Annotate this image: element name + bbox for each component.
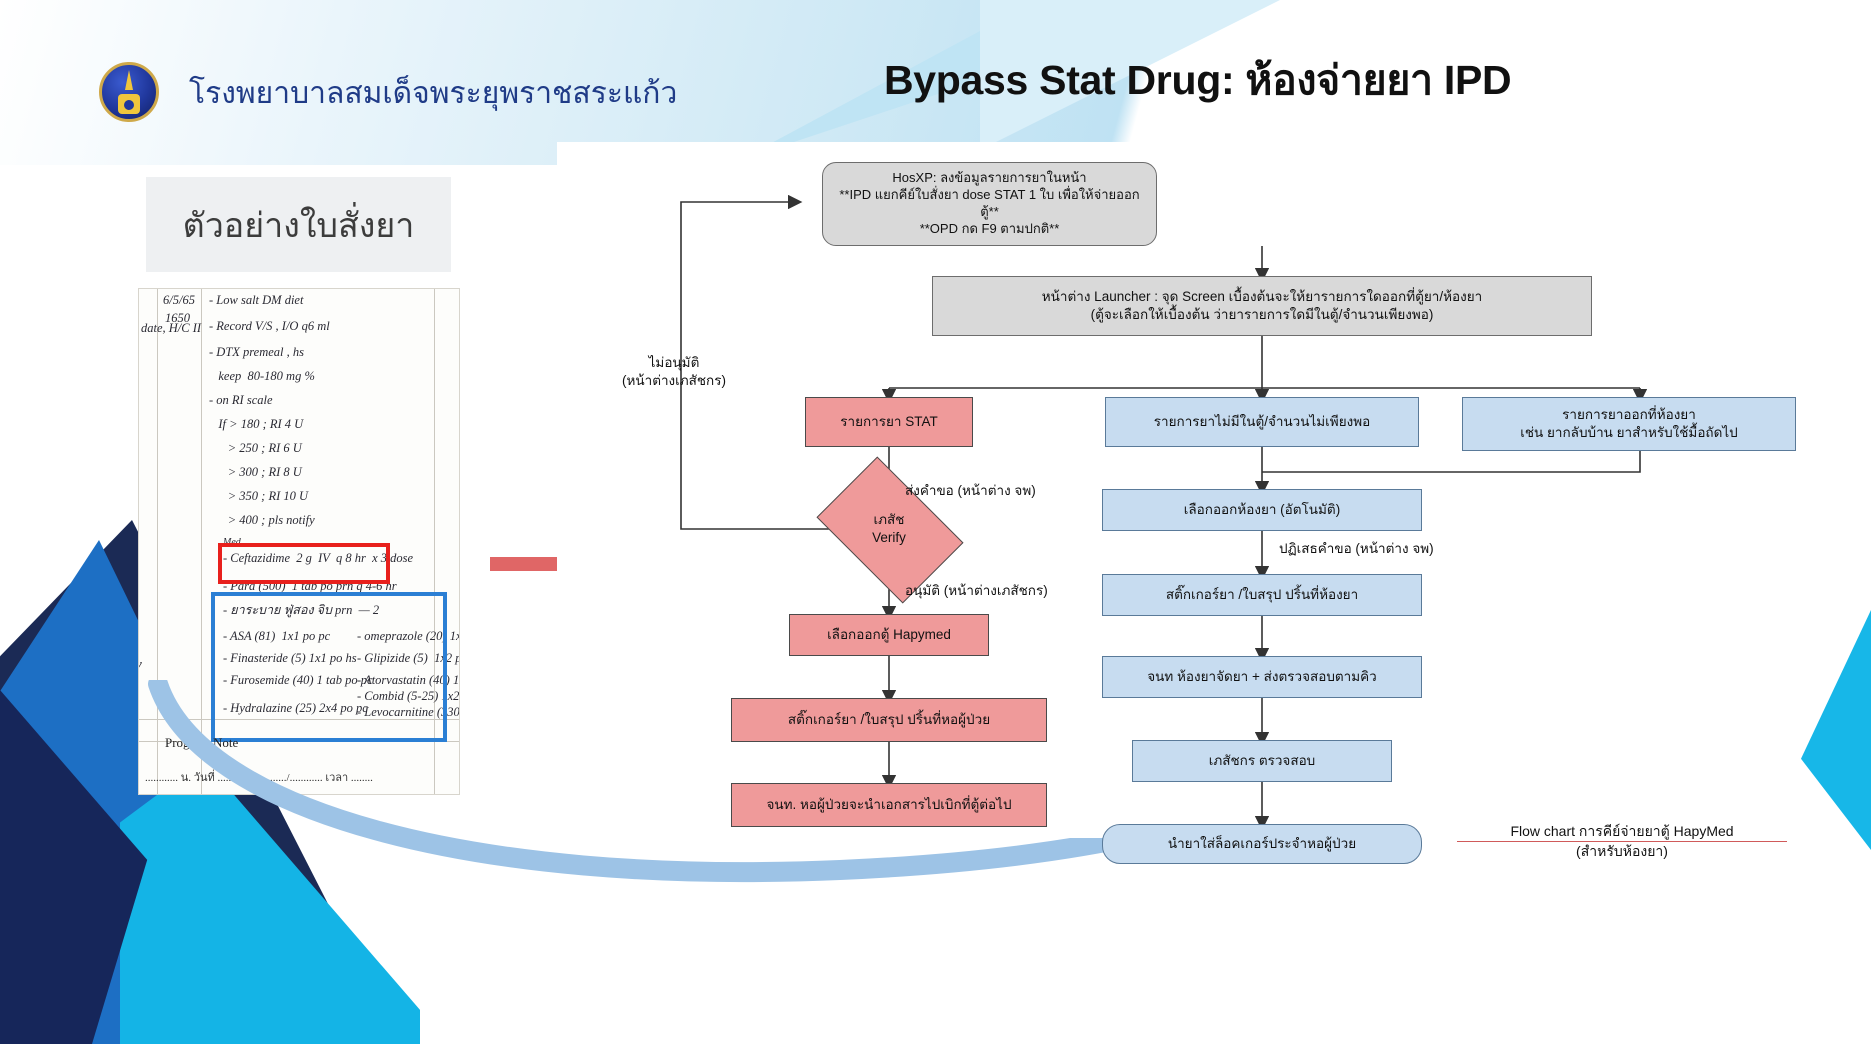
corner-shape-right-cyan	[1801, 610, 1871, 850]
scan-order-line: > 250 ; RI 6 U	[209, 441, 302, 455]
edge-label-send-request: ส่งคำขอ (หน้าต่าง จพ)	[905, 482, 1036, 500]
node-sticker-room[interactable]: สติ๊กเกอร์ยา /ใบสรุป ปริ้นที่ห้องยา	[1102, 574, 1422, 616]
edge-label-reject-request: ปฏิเสธคำขอ (หน้าต่าง จพ)	[1279, 540, 1434, 558]
node-pharmacist-check[interactable]: เภสัชกร ตรวจสอบ	[1132, 740, 1392, 782]
verify-line-2: Verify	[872, 529, 906, 547]
flowchart-panel: HosXP: ลงข้อมูลรายการยาในหน้า **IPD แยกค…	[557, 142, 1797, 838]
scan-order-line: If > 180 ; RI 4 U	[209, 417, 303, 431]
edge-label-not-approved: ไม่อนุมัติ (หน้าต่างเภสัชกร)	[589, 354, 759, 389]
node-sticker-ward[interactable]: สติ๊กเกอร์ยา /ใบสรุป ปริ้นที่หอผู้ป่วย	[731, 698, 1047, 742]
flowchart-caption: Flow chart การคีย์จ่ายยาตู้ HapyMed (สำห…	[1457, 822, 1787, 861]
scan-order-line: > 400 ; pls notify	[209, 513, 315, 527]
scan-order-line: > 350 ; RI 10 U	[209, 489, 308, 503]
scan-order-line: - DTX premeal , hs	[209, 345, 304, 359]
node-stat-list[interactable]: รายการยา STAT	[805, 397, 973, 447]
edge-label-not-approved-l1: ไม่อนุมัติ	[589, 354, 759, 372]
hospital-name: โรงพยาบาลสมเด็จพระยุพราชสระแก้ว	[189, 70, 677, 117]
hospital-crest-icon	[99, 62, 159, 122]
page-title: Bypass Stat Drug: ห้องจ่ายยา IPD	[884, 48, 1511, 113]
sample-prescription-label: ตัวอย่างใบสั่งยา	[146, 177, 451, 272]
node-pharmacist-verify: เภสัช Verify	[829, 487, 949, 571]
scan-time-value: 1650	[165, 311, 190, 325]
node-launcher[interactable]: หน้าต่าง Launcher : จุด Screen เบื้องต้น…	[932, 276, 1592, 336]
sample-prescription-label-text: ตัวอย่างใบสั่งยา	[183, 198, 415, 252]
scan-order-line: keep 80-180 mg %	[209, 369, 315, 383]
scan-order-line: - on RI scale	[209, 393, 273, 407]
node-room-staff[interactable]: จนท ห้องยาจัดยา + ส่งตรวจสอบตามคิว	[1102, 656, 1422, 698]
node-ward-staff[interactable]: จนท. หอผู้ป่วยจะนำเอกสารไปเบิกที่ตู้ต่อไ…	[731, 783, 1047, 827]
edge-label-not-approved-l2: (หน้าต่างเภสัชกร)	[589, 372, 759, 390]
scan-order-line: > 300 ; RI 8 U	[209, 465, 302, 479]
flowchart-caption-line2: (สำหรับห้องยา)	[1457, 842, 1787, 861]
scan-order-line: - Record V/S , I/O q6 ml	[209, 319, 330, 333]
node-not-in-cabinet[interactable]: รายการยาไม่มีในตู้/จำนวนไม่เพียงพอ	[1105, 397, 1419, 447]
node-select-room-auto[interactable]: เลือกออกห้องยา (อัตโนมัติ)	[1102, 489, 1422, 531]
edge-label-approved: อนุมัติ (หน้าต่างเภสัชกร)	[905, 582, 1048, 600]
node-select-hapymed[interactable]: เลือกออกตู้ Hapymed	[789, 614, 989, 656]
scan-signature: H·ov	[138, 657, 142, 674]
node-put-in-locker[interactable]: นำยาใส่ล็อคเกอร์ประจำหอผู้ป่วย	[1102, 824, 1422, 864]
slide-root: โรงพยาบาลสมเด็จพระยุพราชสระแก้ว Bypass S…	[0, 0, 1871, 1044]
flowchart-caption-line1: Flow chart การคีย์จ่ายยาตู้ HapyMed	[1457, 822, 1787, 842]
node-hosxp[interactable]: HosXP: ลงข้อมูลรายการยาในหน้า **IPD แยกค…	[822, 162, 1157, 246]
node-pharmacy-room-list[interactable]: รายการยาออกที่ห้องยา เช่น ยากลับบ้าน ยาส…	[1462, 397, 1796, 451]
scan-date-value: 6/5/65	[163, 293, 195, 307]
red-highlight-box	[218, 543, 390, 584]
verify-line-1: เภสัช	[874, 511, 905, 529]
scan-order-line: - Low salt DM diet	[209, 293, 303, 307]
